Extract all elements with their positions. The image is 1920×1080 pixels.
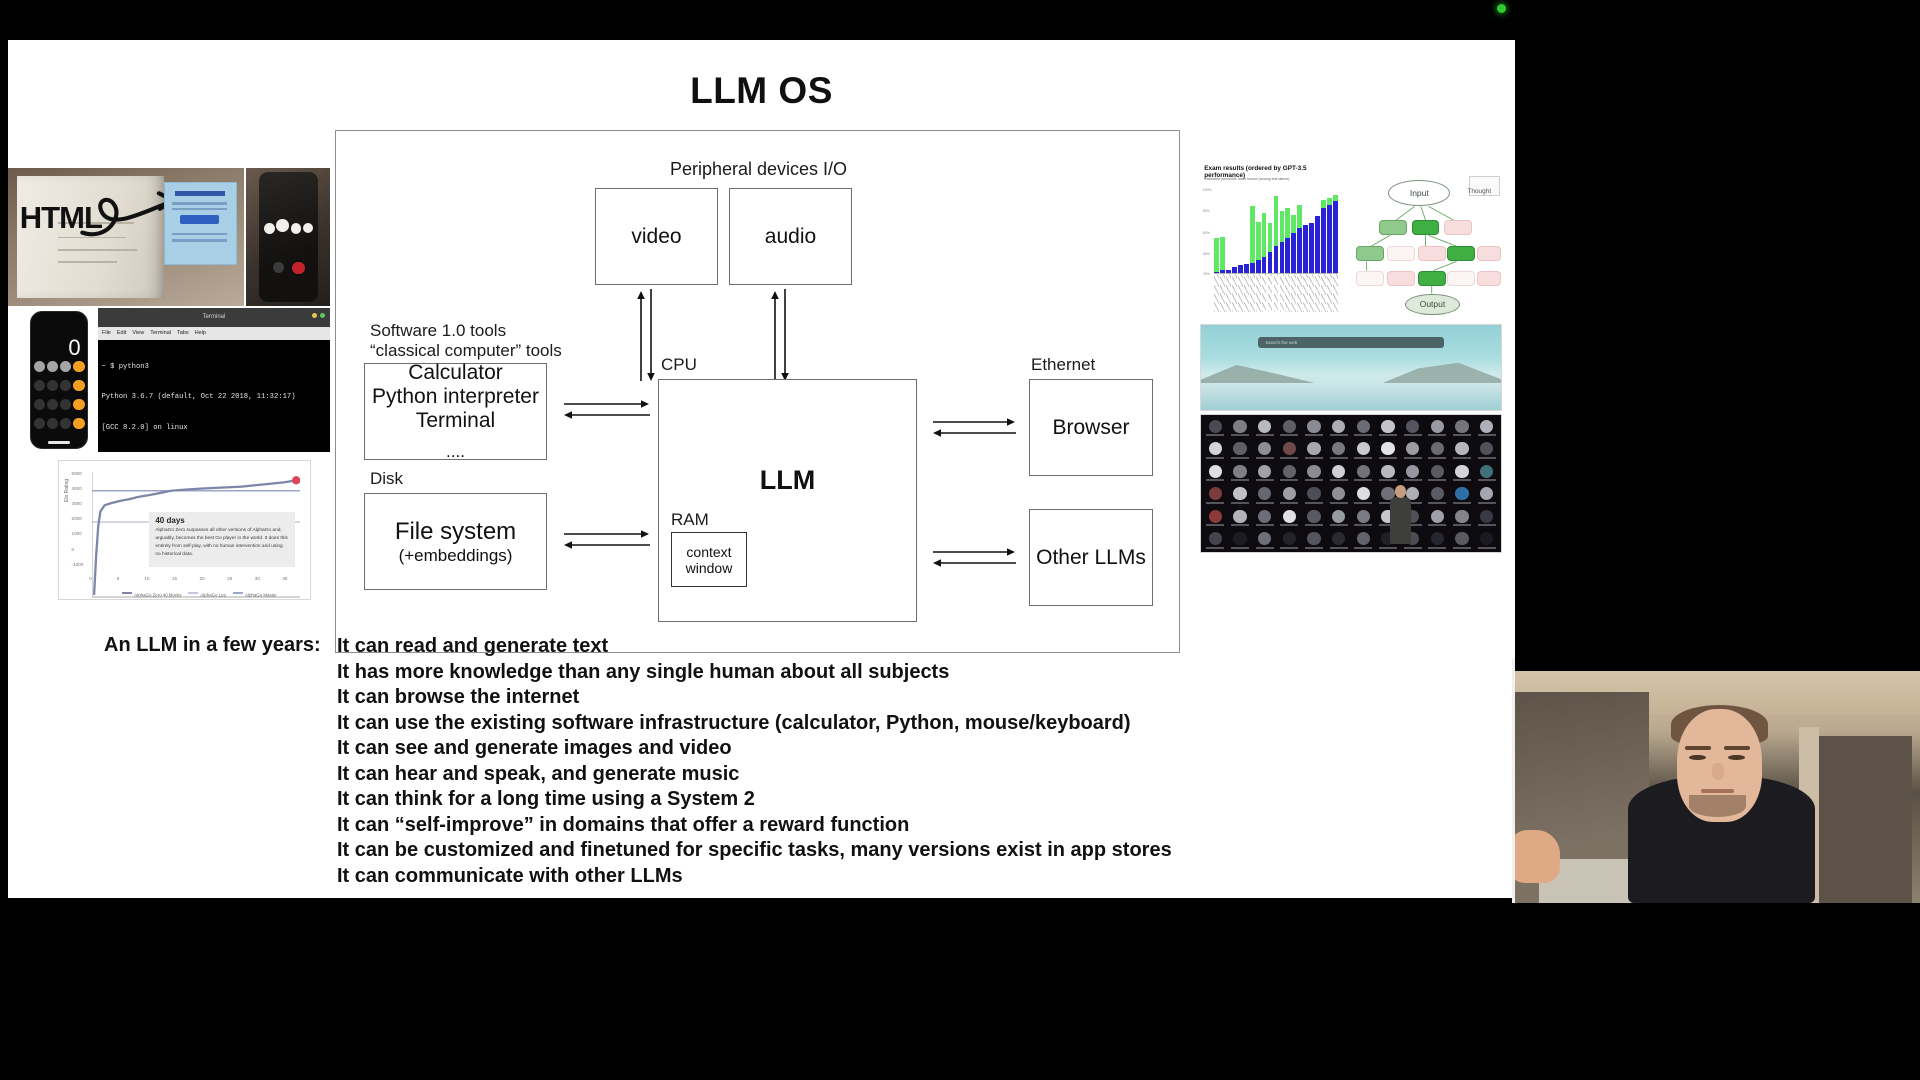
peripheral-devices-label: Peripheral devices I/O <box>336 159 1181 180</box>
thumbnail-exam-results-chart: Exam results (ordered by GPT-3.5 perform… <box>1200 162 1342 315</box>
terminal-titlebar: Terminal <box>98 308 330 327</box>
video-cpu-arrows <box>636 289 658 381</box>
edge-search-bar[interactable]: Search the web <box>1258 337 1444 348</box>
legend-entry: AlphaGo Lee <box>188 592 226 598</box>
terminal-line: ~ $ python3 <box>101 362 326 372</box>
tree-edges <box>1348 162 1503 315</box>
alphago-ytick: -1000 <box>72 562 84 567</box>
thumbnail-terminal: Terminal File Edit View Terminal Tabs He… <box>98 308 330 452</box>
terminal-title: Terminal <box>98 314 330 320</box>
bullets-list: It can read and generate text It has mor… <box>337 634 1172 889</box>
screen-root: LLM OS HTML <box>0 0 1920 1080</box>
phone-body <box>259 172 318 302</box>
alphago-xtick: 20 <box>200 576 205 581</box>
browser-label: Browser <box>1052 416 1129 440</box>
thumbnail-edge-browser: Search the web <box>1200 324 1502 411</box>
other-llms-label: Other LLMs <box>1036 546 1146 570</box>
alphago-ytick: 3000 <box>72 501 82 506</box>
bullet-item: It can “self-improve” in domains that of… <box>337 813 1172 839</box>
alphago-xtick: 35 <box>282 576 287 581</box>
alphago-ytick: 2000 <box>72 516 82 521</box>
cpu-browser-arrows <box>933 417 1016 439</box>
file-system-label: File system <box>395 518 516 546</box>
terminal-line: [GCC 8.2.0] on linux <box>101 423 326 433</box>
classical-tools-box[interactable]: Calculator Python interpreter Terminal .… <box>364 363 547 460</box>
alphago-xtick: 30 <box>255 576 260 581</box>
tools-cpu-arrows <box>564 399 650 421</box>
tools-calculator-label: Calculator <box>408 361 503 385</box>
bullet-item: It can use the existing software infrast… <box>337 711 1172 737</box>
menu-help[interactable]: Help <box>195 330 206 336</box>
tools-python-label: Python interpreter <box>372 385 539 409</box>
alphago-xtick: 10 <box>144 576 149 581</box>
slide-canvas: LLM OS HTML <box>8 40 1515 898</box>
bullets-heading: An LLM in a few years: <box>104 634 321 657</box>
exam-chart-xlabels <box>1214 274 1338 312</box>
terminal-output: ~ $ python3 Python 3.6.7 (default, Oct 2… <box>101 341 326 452</box>
context-window-box[interactable]: context window <box>671 532 747 587</box>
alphago-callout-body: AlphaGo Zero surpasses all other version… <box>149 527 295 559</box>
cpu-label: CPU <box>661 355 697 375</box>
context-window-line2: window <box>686 560 733 576</box>
ram-label: RAM <box>671 510 709 530</box>
presenter-webcam[interactable] <box>1512 658 1920 903</box>
menu-view[interactable]: View <box>132 330 144 336</box>
audio-cpu-arrows <box>770 289 792 381</box>
alphago-ytick: 4000 <box>72 486 82 491</box>
alphago-callout: 40 days AlphaGo Zero surpasses all other… <box>149 512 295 567</box>
phone-frame: 0 <box>30 311 89 449</box>
llm-label: LLM <box>760 465 815 496</box>
llm-os-diagram: Peripheral devices I/O video audio Softw <box>335 130 1180 653</box>
context-window-line1: context <box>686 544 731 560</box>
thumbnail-phone-assistant <box>246 168 330 306</box>
disk-cpu-arrows <box>564 529 650 551</box>
presenter-hand <box>1512 830 1560 884</box>
tools-terminal-label: Terminal <box>416 409 495 433</box>
calculator-display: 0 <box>68 335 80 361</box>
edge-search-placeholder: Search the web <box>1265 340 1297 345</box>
bullet-item: It can communicate with other LLMs <box>337 864 1172 890</box>
tools-ellipsis-label: .... <box>446 442 465 462</box>
alphago-ytick: 0 <box>72 547 75 552</box>
browser-box[interactable]: Browser <box>1029 379 1153 476</box>
software-tools-label-line1: Software 1.0 tools <box>370 321 506 341</box>
generated-website-preview <box>164 182 237 265</box>
video-box[interactable]: video <box>595 188 718 285</box>
thumbnail-calculator: 0 <box>24 308 94 452</box>
alphago-xtick: 5 <box>117 576 120 581</box>
menu-terminal[interactable]: Terminal <box>150 330 171 336</box>
bullet-item: It can be customized and finetuned for s… <box>337 838 1172 864</box>
phone-secondary-button <box>273 262 284 273</box>
legend-entry: AlphaGo Zero 40 blocks <box>122 592 181 598</box>
alphago-ylabel: Elo Rating <box>64 479 70 502</box>
audio-box-label: audio <box>765 225 816 249</box>
terminal-menubar: File Edit View Terminal Tabs Help <box>98 327 330 340</box>
bullet-item: It can read and generate text <box>337 634 1172 660</box>
thumbnail-alphago-chart: Elo Rating 5000 4000 3000 2000 1000 0 -1… <box>58 460 311 600</box>
phone-record-button <box>292 262 305 275</box>
alphago-callout-title: 40 days <box>149 512 295 527</box>
alphago-ytick: 5000 <box>72 471 82 476</box>
terminal-line: Python 3.6.7 (default, Oct 22 2018, 11:3… <box>101 392 326 402</box>
bullet-item: It can see and generate images and video <box>337 736 1172 762</box>
cpu-llm-box[interactable]: LLM RAM context window <box>658 379 917 622</box>
embeddings-label: (+embeddings) <box>399 546 513 566</box>
page-title: LLM OS <box>8 70 1515 112</box>
disk-label: Disk <box>370 469 403 489</box>
alphago-xtick: 0 <box>89 576 92 581</box>
menu-file[interactable]: File <box>102 330 111 336</box>
edge-logo-icon <box>1330 365 1375 410</box>
alphago-xtick: 25 <box>227 576 232 581</box>
bullet-item: It can browse the internet <box>337 685 1172 711</box>
alphago-legend: AlphaGo Zero 40 blocks AlphaGo Lee Alpha… <box>94 592 305 598</box>
presenter-silhouette <box>1390 497 1411 544</box>
menu-tabs[interactable]: Tabs <box>177 330 189 336</box>
exam-chart-subtitle: Estimated percentile lower bound (among … <box>1204 177 1289 181</box>
bullet-item: It can hear and speak, and generate musi… <box>337 762 1172 788</box>
thumbnail-html-sketch: HTML <box>8 168 244 306</box>
cpu-other-llms-arrows <box>933 547 1016 569</box>
recording-indicator-dot <box>1497 4 1506 13</box>
other-llms-box[interactable]: Other LLMs <box>1029 509 1153 606</box>
menu-edit[interactable]: Edit <box>117 330 126 336</box>
video-box-label: video <box>631 225 681 249</box>
ethernet-label: Ethernet <box>1031 355 1095 375</box>
bullet-item: It can think for a long time using a Sys… <box>337 787 1172 813</box>
exam-chart-bars <box>1214 190 1338 274</box>
thumbnail-app-grid <box>1200 414 1502 553</box>
file-system-box[interactable]: File system (+embeddings) <box>364 493 547 590</box>
bullet-item: It has more knowledge than any single hu… <box>337 660 1172 686</box>
alphago-xtick: 15 <box>172 576 177 581</box>
app-icon-grid <box>1204 418 1498 551</box>
software-tools-label-line2: “classical computer” tools <box>370 341 562 361</box>
thumbnail-tree-of-thought: Input Thought Output <box>1348 162 1503 315</box>
legend-entry: AlphaGo Master <box>233 592 277 598</box>
alphago-ytick: 1000 <box>72 531 82 536</box>
audio-box[interactable]: audio <box>729 188 852 285</box>
